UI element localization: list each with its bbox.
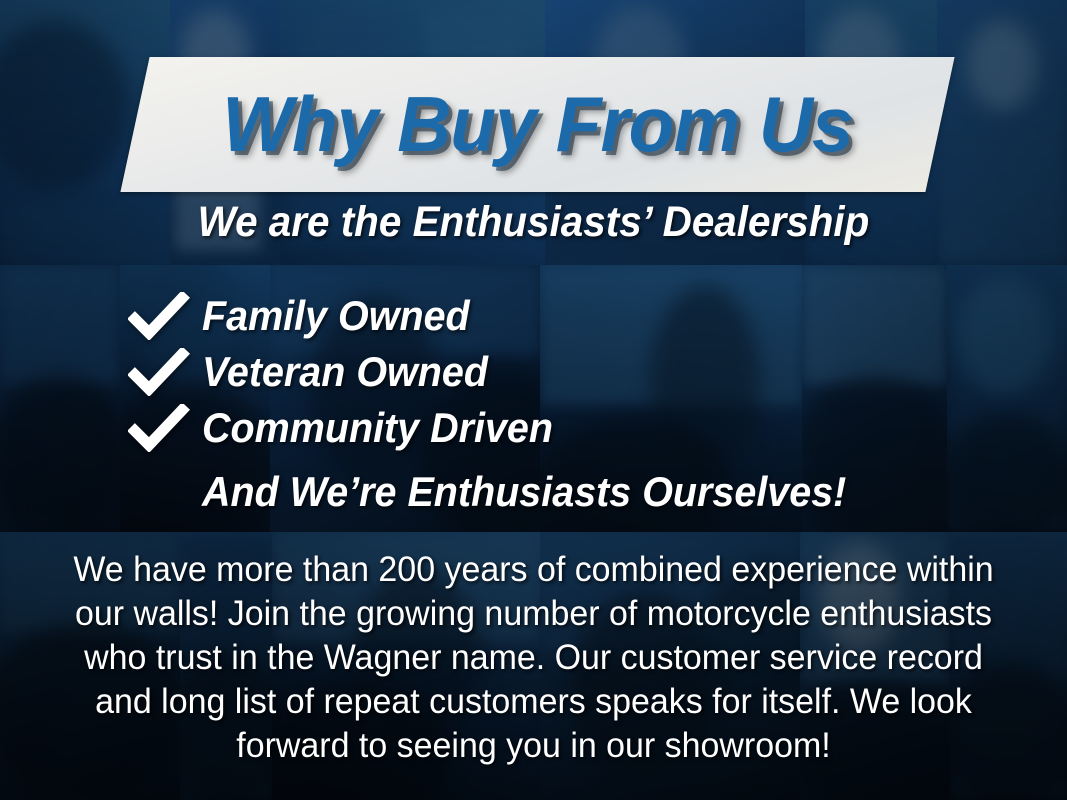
list-item: Community Driven — [128, 400, 998, 456]
list-item: Veteran Owned — [128, 344, 998, 400]
list-item: Family Owned — [128, 288, 998, 344]
list-item-label: Family Owned — [202, 292, 470, 340]
why-buy-from-us-banner: Why Buy From Us We are the Enthusiasts’ … — [0, 0, 1067, 800]
check-icon — [128, 292, 194, 340]
check-icon — [128, 404, 194, 452]
page-title: Why Buy From Us — [151, 57, 924, 192]
closing-line: And We’re Enthusiasts Ourselves! — [202, 468, 950, 516]
content-layer: Why Buy From Us We are the Enthusiasts’ … — [0, 0, 1067, 800]
subtitle: We are the Enthusiasts’ Dealership — [32, 198, 1035, 247]
body-paragraph: We have more than 200 years of combined … — [59, 548, 1009, 768]
list-item-label: Veteran Owned — [202, 348, 488, 396]
benefits-list: Family Owned Veteran Owned Community Dri… — [128, 288, 998, 516]
list-item-label: Community Driven — [202, 404, 553, 452]
check-icon — [128, 348, 194, 396]
